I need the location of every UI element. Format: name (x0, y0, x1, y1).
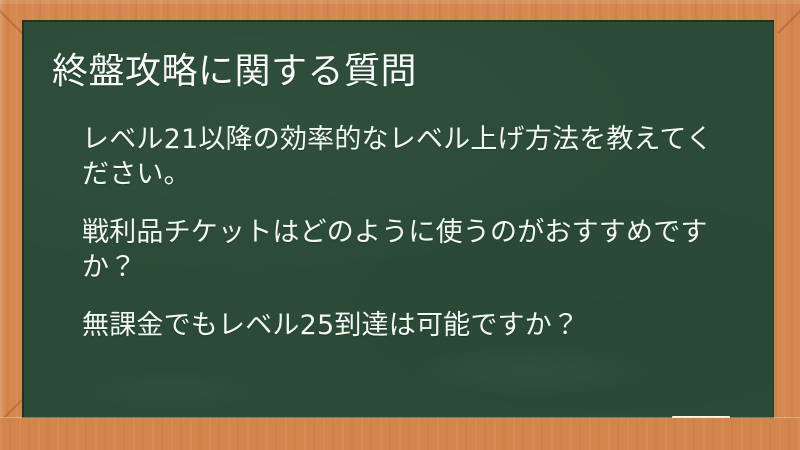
slide-content: 終盤攻略に関する質問 レベル21以降の効率的なレベル上げ方法を教えてください。 … (22, 20, 774, 418)
frame-bevel-left (0, 0, 4, 450)
chalkboard-surface: 終盤攻略に関する質問 レベル21以降の効率的なレベル上げ方法を教えてください。 … (22, 20, 774, 418)
list-item: 無課金でもレベル25到達は可能ですか？ (82, 308, 730, 343)
chalkboard-slide: 終盤攻略に関する質問 レベル21以降の効率的なレベル上げ方法を教えてください。 … (0, 0, 800, 450)
question-list: レベル21以降の効率的なレベル上げ方法を教えてください。 戦利品チケットはどのよ… (82, 122, 730, 343)
list-item: 戦利品チケットはどのように使うのがおすすめですか？ (82, 215, 730, 285)
chalk-ledge (0, 418, 800, 450)
frame-mitre-top-right (777, 8, 800, 33)
page-title: 終盤攻略に関する質問 (52, 50, 752, 94)
frame-mitre-top-left (0, 8, 23, 33)
list-item: レベル21以降の効率的なレベル上げ方法を教えてください。 (82, 122, 730, 192)
frame-bevel-top (0, 0, 800, 4)
